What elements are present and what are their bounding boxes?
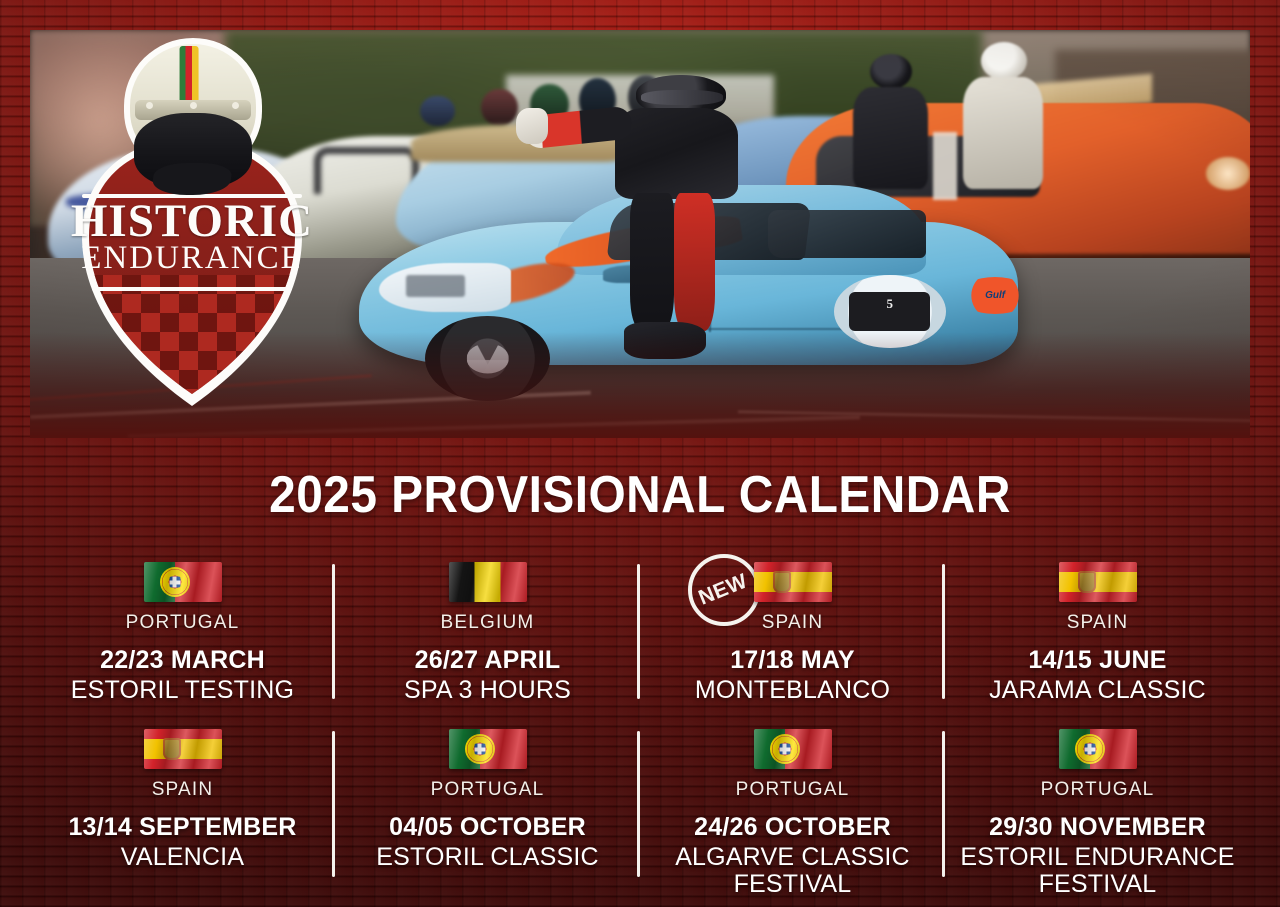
portugal-flag-icon [754,729,832,769]
photo-marshal [957,42,1049,189]
event-dates: 22/23 MARCH [100,646,265,675]
new-badge-label: NEW [696,569,752,610]
flag-wrap [1059,727,1137,771]
logo-text-historic: HISTORIC [68,198,316,245]
event-name: VALENCIA [121,844,244,871]
event-dates: 04/05 OCTOBER [389,813,586,842]
event-dates: 29/30 NOVEMBER [989,813,1206,842]
flag-wrap [1059,560,1137,604]
calendar-event-5[interactable]: SPAIN 13/14 SEPTEMBER VALENCIA [30,719,335,897]
portugal-flag-icon [144,562,222,602]
event-country: SPAIN [1067,612,1129,634]
historic-endurance-logo: HISTORIC ENDURANCE [68,34,316,412]
event-country: PORTUGAL [431,779,545,801]
calendar-event-8[interactable]: PORTUGAL 29/30 NOVEMBER ESTORIL ENDURANC… [945,719,1250,897]
photo-marshal [847,54,932,189]
flag-wrap [449,560,527,604]
new-badge: NEW [688,554,760,626]
event-name: ALGARVE CLASSIC FESTIVAL [646,844,939,897]
event-name: ESTORIL TESTING [71,677,294,704]
shield-divider-bottom [92,287,292,291]
spain-flag-icon [144,729,222,769]
portugal-flag-icon [449,729,527,769]
event-name: JARAMA CLASSIC [989,677,1206,704]
logo-text-endurance: ENDURANCE [68,242,316,275]
event-country: PORTUGAL [736,779,850,801]
calendar-event-7[interactable]: PORTUGAL 24/26 OCTOBER ALGARVE CLASSIC F… [640,719,945,897]
calendar-event-3[interactable]: NEW SPAIN 17/18 MAY MONTEBLANCO [640,552,945,719]
calendar-event-4[interactable]: SPAIN 14/15 JUNE JARAMA CLASSIC [945,552,1250,719]
flag-wrap: NEW [754,560,832,604]
gulf-sponsor-logo: Gulf [959,277,1031,314]
calendar-grid: PORTUGAL 22/23 MARCH ESTORIL TESTING BEL… [30,552,1250,897]
page-title: 2025 PROVISIONAL CALENDAR [51,465,1229,525]
event-dates: 13/14 SEPTEMBER [68,813,296,842]
event-name: MONTEBLANCO [695,677,890,704]
crowd-person [420,96,454,127]
photo-driver [603,75,749,377]
crowd-person [481,89,518,127]
flag-wrap [144,560,222,604]
event-name: ESTORIL ENDURANCE FESTIVAL [951,844,1244,897]
spain-flag-icon [1059,562,1137,602]
event-dates: 26/27 APRIL [415,646,561,675]
spain-flag-icon [754,562,832,602]
event-country: PORTUGAL [1041,779,1155,801]
calendar-event-2[interactable]: BELGIUM 26/27 APRIL SPA 3 HOURS [335,552,640,719]
calendar-event-6[interactable]: PORTUGAL 04/05 OCTOBER ESTORIL CLASSIC [335,719,640,897]
calendar-event-1[interactable]: PORTUGAL 22/23 MARCH ESTORIL TESTING [30,552,335,719]
flag-wrap [449,727,527,771]
checkered-flag-pattern-icon [84,275,300,396]
event-country: PORTUGAL [126,612,240,634]
event-name: ESTORIL CLASSIC [376,844,599,871]
event-country: BELGIUM [441,612,535,634]
event-dates: 24/26 OCTOBER [694,813,891,842]
portugal-flag-icon [1059,729,1137,769]
event-dates: 17/18 MAY [730,646,855,675]
event-dates: 14/15 JUNE [1028,646,1166,675]
event-name: SPA 3 HOURS [404,677,571,704]
event-country: SPAIN [152,779,214,801]
racing-helmet-icon [130,44,256,168]
event-country: SPAIN [762,612,824,634]
flag-wrap [754,727,832,771]
car-front-wheel [425,316,550,402]
flag-wrap [144,727,222,771]
belgium-flag-icon [449,562,527,602]
